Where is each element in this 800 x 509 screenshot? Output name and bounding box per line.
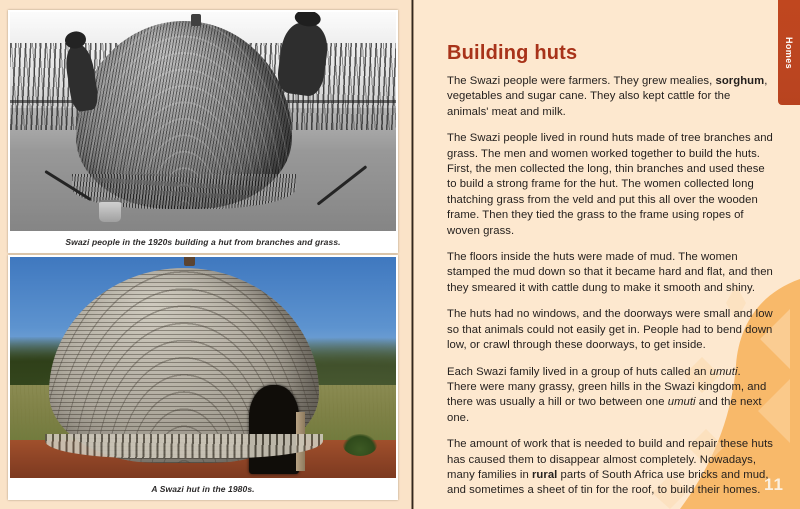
photo1-hut-cap	[191, 14, 201, 26]
photo2-bush	[343, 434, 377, 456]
photo-swazi-beehive-hut	[10, 257, 396, 478]
text-run-normal: The huts had no windows, and the doorway…	[447, 308, 773, 351]
paragraph-5: Each Swazi family lived in a group of hu…	[447, 365, 773, 427]
text-run-bold: sorghum	[716, 75, 765, 87]
article-body: The Swazi people were farmers. They grew…	[447, 74, 773, 509]
paragraph-1: The Swazi people were farmers. They grew…	[447, 74, 773, 120]
figure-caption: Swazi people in the 1920s building a hut…	[8, 231, 398, 253]
photo2-hut-grass-fringe	[45, 434, 323, 458]
figure-swazi-beehive-hut: A Swazi hut in the 1980s.	[8, 255, 398, 500]
text-run-normal: The Swazi people were farmers. They grew…	[447, 75, 716, 87]
text-run-normal: Each Swazi family lived in a group of hu…	[447, 366, 710, 378]
paragraph-6: The amount of work that is needed to bui…	[447, 437, 773, 499]
text-run-italic: umuti	[710, 366, 738, 378]
section-tab-homes[interactable]: Homes	[778, 0, 800, 105]
text-run-normal: The Swazi people lived in round huts mad…	[447, 132, 773, 236]
book-spread: Swazi people in the 1920s building a hut…	[0, 0, 800, 509]
photo2-hut-cap	[184, 257, 195, 266]
paragraph-4: The huts had no windows, and the doorway…	[447, 307, 773, 353]
page-title: Building huts	[447, 42, 577, 65]
right-page: Building huts The Swazi people were farm…	[414, 0, 800, 509]
left-page: Swazi people in the 1920s building a hut…	[0, 0, 413, 509]
section-tab-label: Homes	[784, 36, 794, 68]
text-run-bold: rural	[532, 469, 557, 481]
figure-swazi-people-building-hut: Swazi people in the 1920s building a hut…	[8, 10, 398, 253]
text-run-italic: umuti	[668, 396, 696, 408]
page-number: 11	[764, 475, 784, 495]
paragraph-3: The floors inside the huts were made of …	[447, 250, 773, 296]
figure-caption: A Swazi hut in the 1980s.	[8, 478, 398, 500]
photo1-clay-pot	[99, 200, 121, 222]
text-run-normal: The floors inside the huts were made of …	[447, 251, 773, 294]
photo2-hut-doorway	[249, 385, 299, 473]
paragraph-2: The Swazi people lived in round huts mad…	[447, 131, 773, 239]
photo-swazi-people-building-hut	[10, 12, 396, 231]
